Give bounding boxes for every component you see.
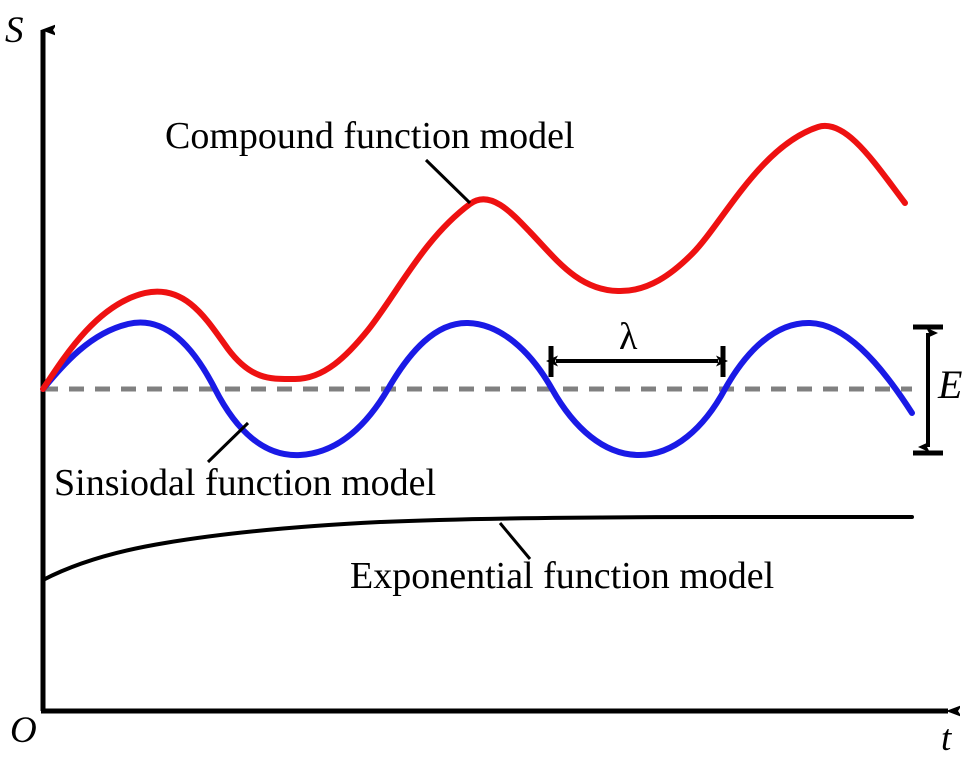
sinusoidal-curve-label: Sinsiodal function model [54,464,436,502]
origin-label: O [10,712,37,749]
amplitude-label: E [938,365,962,405]
wavelength-label: λ [619,318,637,356]
sinusoidal-leader-line [208,423,248,462]
compound-leader-line [426,160,470,203]
compound-curve-label: Compound function model [165,117,575,155]
exponential-curve-label: Exponential function model [350,557,774,595]
y-axis-label: S [5,12,24,49]
x-axis-label: t [941,720,951,757]
compound-curve [43,126,905,389]
exponential-leader-line [500,523,530,559]
figure-canvas: S O t E λ Compound function model Sinsio… [0,0,968,761]
